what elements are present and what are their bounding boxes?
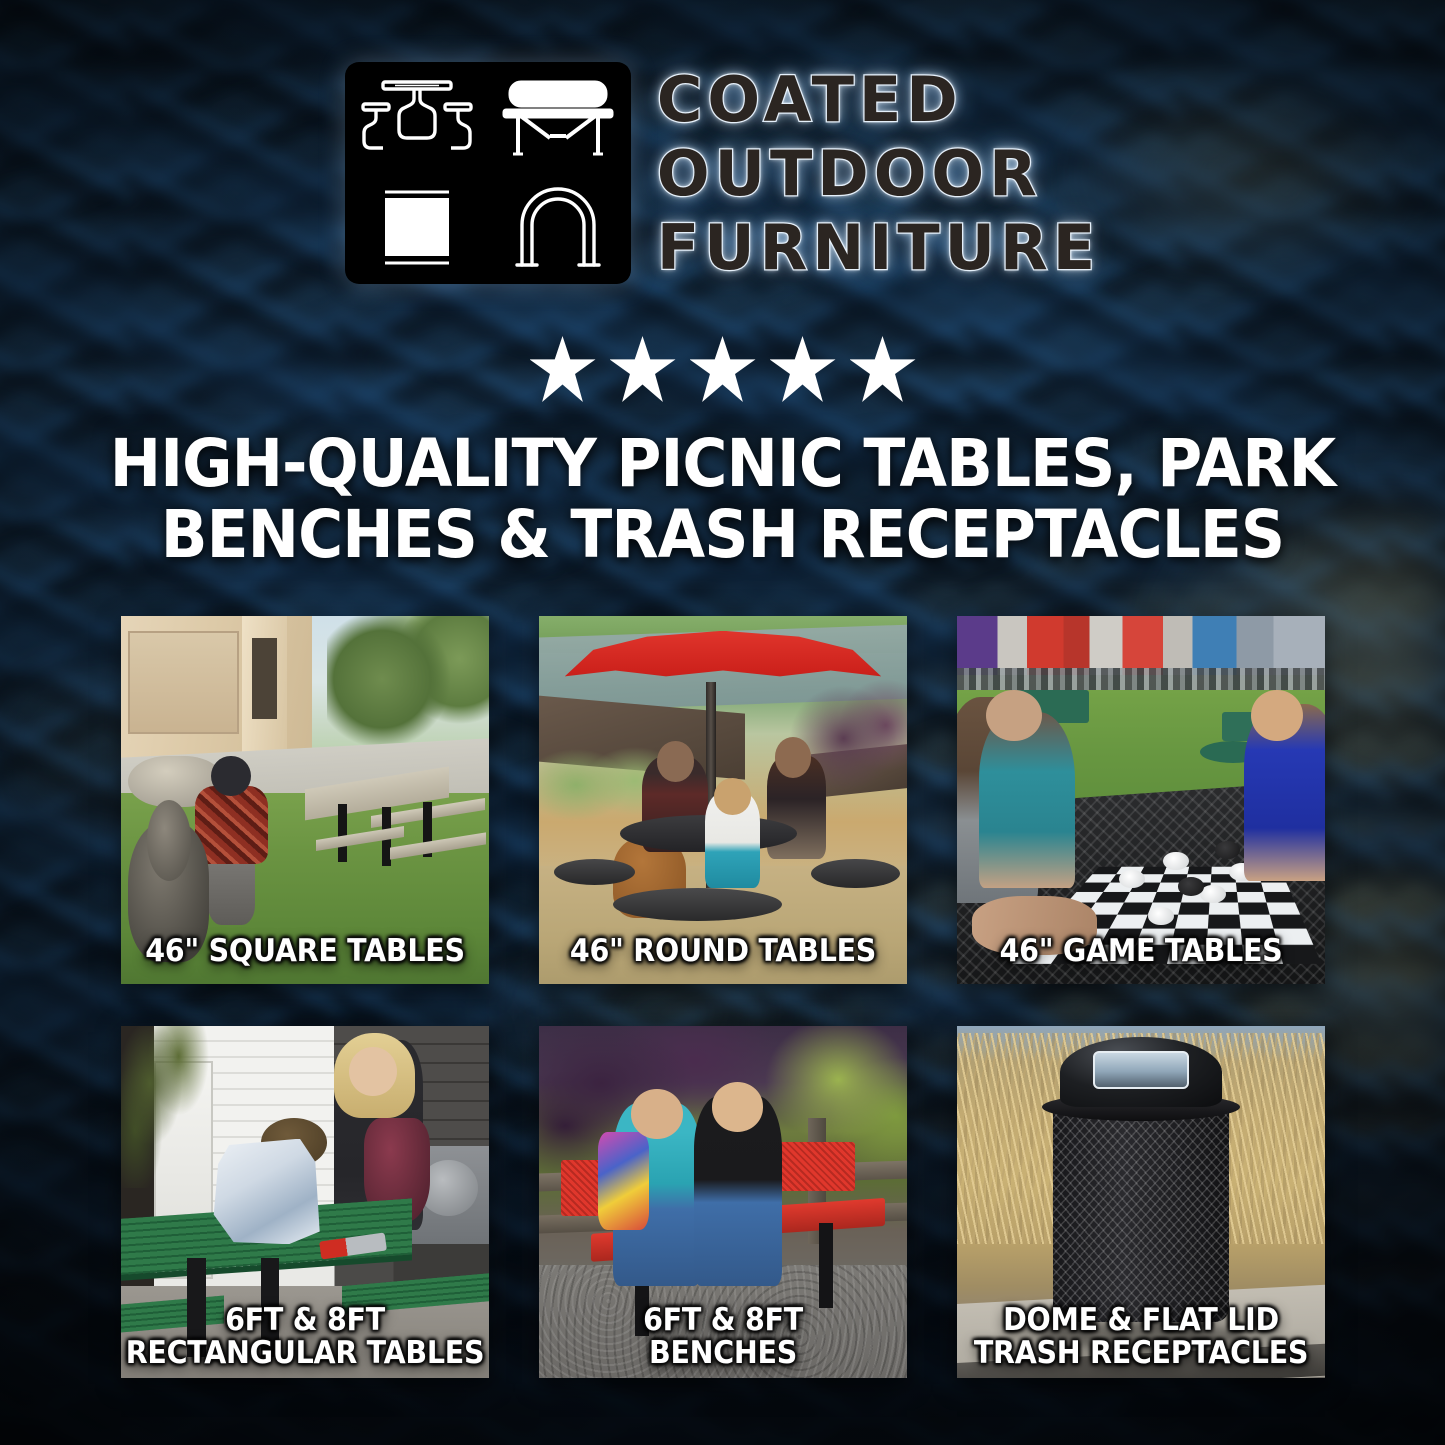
product-tile-rectangular-tables[interactable]: 6FT & 8FT RECTANGULAR TABLES: [121, 1026, 489, 1378]
product-tile-square-tables[interactable]: 46" SQUARE TABLES: [121, 616, 489, 984]
brand-logo-mark: [345, 62, 631, 284]
picnic-table-icon: [348, 65, 487, 172]
product-photo-trash-receptacles: [957, 1026, 1325, 1378]
star-icon-2: [610, 336, 676, 402]
star-icon-1: [530, 336, 596, 402]
brand-logo-row: COATED OUTDOOR FURNITURE: [0, 62, 1445, 284]
product-tile-trash-receptacles[interactable]: DOME & FLAT LID TRASH RECEPTACLES: [957, 1026, 1325, 1378]
star-icon-4: [770, 336, 836, 402]
star-icon-5: [850, 336, 916, 402]
bench-table-icon: [489, 65, 628, 172]
star-icon-3: [690, 336, 756, 402]
brand-name-line-2: OUTDOOR: [657, 138, 1100, 210]
promo-poster: COATED OUTDOOR FURNITURE HIGH-QUALITY PI…: [0, 0, 1445, 1445]
product-photo-benches: [539, 1026, 907, 1378]
bike-rack-icon: [489, 174, 628, 281]
brand-name-line-1: COATED: [657, 64, 1100, 136]
brand-name: COATED OUTDOOR FURNITURE: [657, 62, 1100, 284]
product-tile-benches[interactable]: 6FT & 8FT BENCHES: [539, 1026, 907, 1378]
star-rating: [0, 336, 1445, 402]
product-tile-game-tables[interactable]: 46" GAME TABLES: [957, 616, 1325, 984]
headline: HIGH-QUALITY PICNIC TABLES, PARK BENCHES…: [97, 428, 1348, 570]
product-tile-round-tables[interactable]: 46" ROUND TABLES: [539, 616, 907, 984]
trash-receptacle-icon: [348, 174, 487, 281]
product-photo-square-tables: [121, 616, 489, 984]
product-grid: 46" SQUARE TABLES: [121, 616, 1325, 1378]
product-photo-round-tables: [539, 616, 907, 984]
headline-line-1: HIGH-QUALITY PICNIC TABLES, PARK: [97, 428, 1348, 499]
headline-line-2: BENCHES & TRASH RECEPTACLES: [97, 499, 1348, 570]
product-photo-game-tables: [957, 616, 1325, 984]
product-photo-rectangular-tables: [121, 1026, 489, 1378]
brand-name-line-3: FURNITURE: [657, 212, 1100, 284]
